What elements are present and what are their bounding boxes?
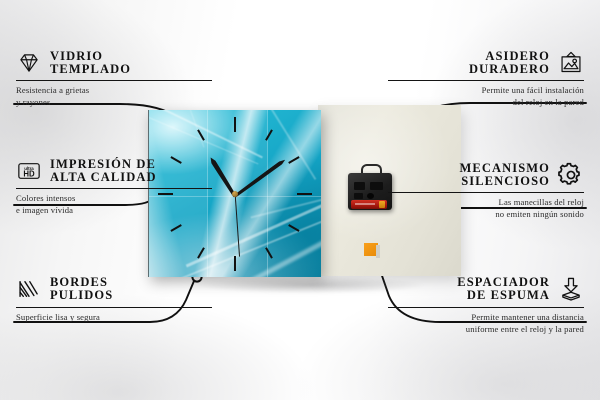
diamond-icon <box>16 50 42 76</box>
feature-espaciador-de-espuma: ESPACIADOR DE ESPUMA Permite mantener un… <box>388 276 584 335</box>
feature-desc-line2: del reloj en la pared <box>388 97 584 109</box>
feature-divider <box>16 80 212 81</box>
feature-mecanismo-silencioso: MECANISMO SILENCIOSO Las manecillas del … <box>388 162 584 220</box>
battery <box>351 200 387 209</box>
feature-divider <box>388 80 584 81</box>
clock-mechanism <box>348 170 392 210</box>
feature-desc-line1: Resistencia a grietas <box>16 85 212 97</box>
foam-spacer <box>364 243 380 258</box>
feature-title-line2: ALTA CALIDAD <box>50 171 157 184</box>
feature-desc-line2: uniforme entre el reloj y la pared <box>388 324 584 336</box>
gear-icon <box>558 162 584 188</box>
feature-impresion-alta-calidad: ultra HD IMPRESIÓN DE ALTA CALIDAD Color… <box>16 158 212 216</box>
feature-desc-line1: Permite mantener una distancia <box>388 312 584 324</box>
clock-center-cap <box>232 191 238 197</box>
feature-bordes-pulidos: BORDES PULIDOS Superficie lisa y segura <box>16 276 212 324</box>
feature-title-line2: TEMPLADO <box>50 63 131 76</box>
feature-vidrio-templado: VIDRIO TEMPLADO Resistencia a grietas y … <box>16 50 212 108</box>
feature-title-line2: PULIDOS <box>50 289 113 302</box>
feature-desc-line2: y rayones <box>16 97 212 109</box>
feature-desc-line1: Permite una fácil instalación <box>388 85 584 97</box>
feature-desc-line1: Las manecillas del reloj <box>388 197 584 209</box>
feature-title-line2: DE ESPUMA <box>467 289 550 302</box>
feature-divider <box>16 188 212 189</box>
feature-desc-line1: Colores intensos <box>16 193 212 205</box>
clock-minute-hand <box>234 157 287 197</box>
infographic-canvas: VIDRIO TEMPLADO Resistencia a grietas y … <box>0 0 600 400</box>
feature-title-line2: SILENCIOSO <box>461 175 550 188</box>
feature-desc-line2: e imagen vívida <box>16 205 212 217</box>
feature-title-line2: DURADERO <box>469 63 550 76</box>
wall-hanger-frame-icon <box>558 50 584 76</box>
feature-divider <box>388 307 584 308</box>
feature-desc-line1: Superficie lisa y segura <box>16 312 212 324</box>
polished-edges-icon <box>16 276 42 302</box>
svg-text:HD: HD <box>23 169 35 178</box>
feature-divider <box>388 192 584 193</box>
feature-asidero-duradero: ASIDERO DURADERO Permite una fácil insta… <box>388 50 584 108</box>
feature-divider <box>16 307 212 308</box>
ultra-hd-icon: ultra HD <box>16 158 42 184</box>
foam-spacer-arrow-icon <box>558 276 584 302</box>
feature-desc-line2: no emiten ningún sonido <box>388 209 584 221</box>
